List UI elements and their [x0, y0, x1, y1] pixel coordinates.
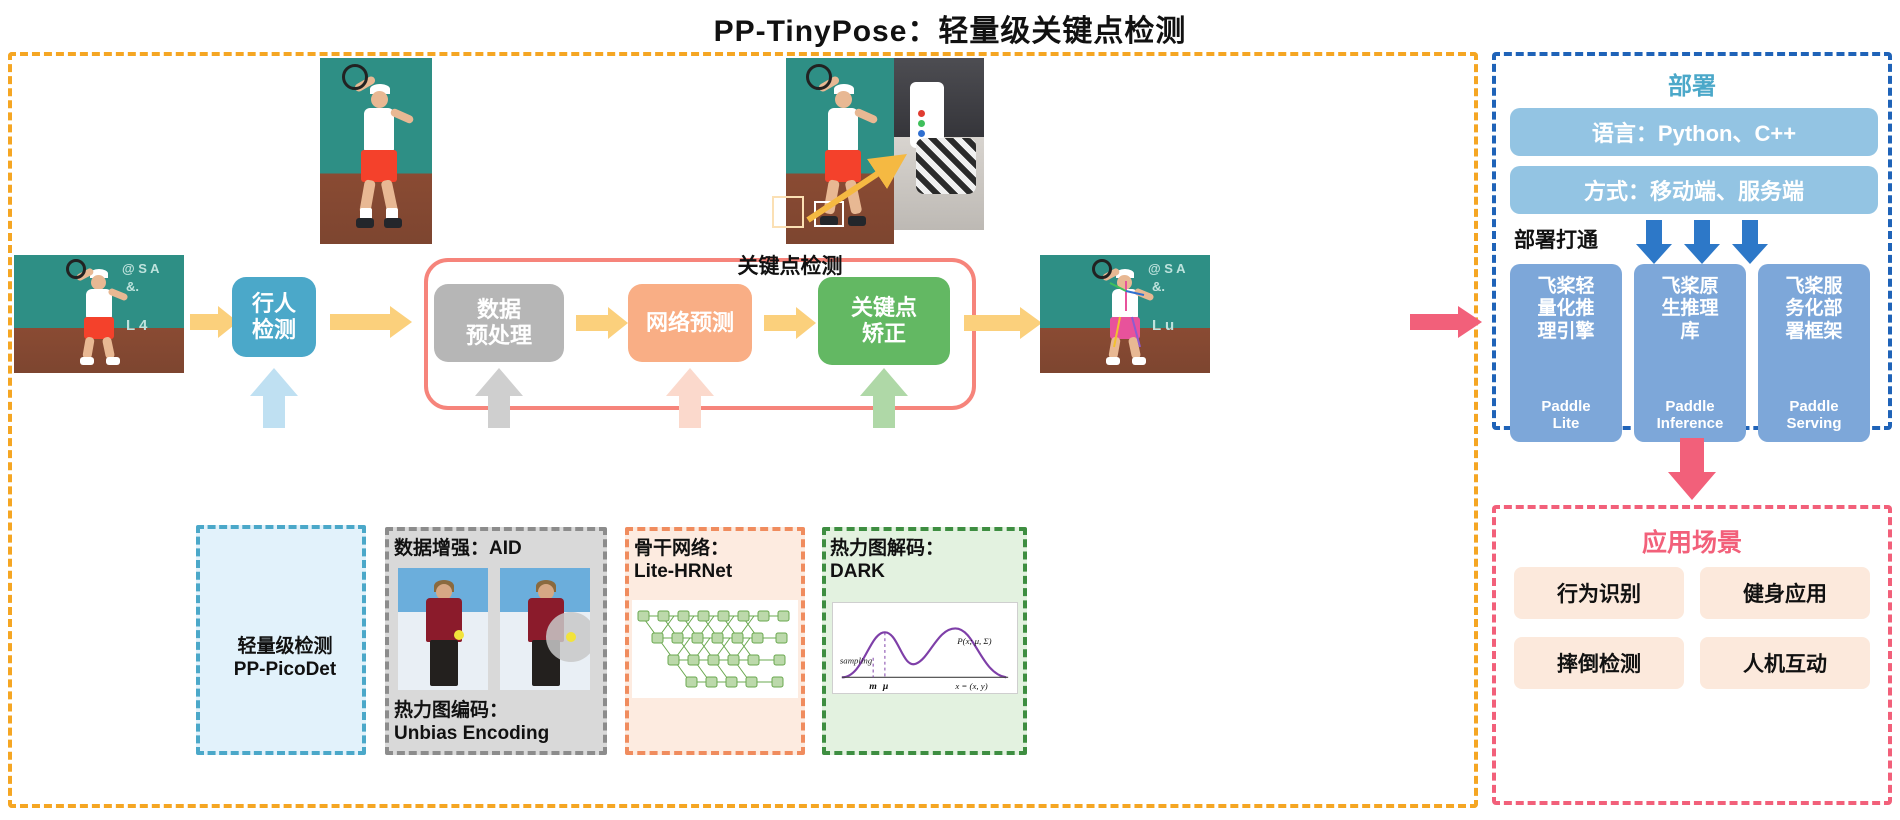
deploy-down-arrow-1: [1636, 220, 1672, 264]
network-prediction-box[interactable]: 网络预测: [628, 284, 752, 362]
shoe-shape: [916, 138, 976, 194]
deploy-through-label: 部署打通: [1514, 224, 1598, 254]
app-chip-human-interaction[interactable]: 人机互动: [1700, 637, 1870, 689]
framework-card-paddle-lite[interactable]: 飞桨轻 量化推 理引擎 Paddle Lite: [1510, 264, 1622, 442]
svg-text:sampling: sampling: [840, 656, 873, 666]
decode-label: 热力图解码： DARK: [830, 538, 944, 584]
player-figure: [62, 269, 140, 369]
framework-zh-label: 飞桨原 生推理 库: [1661, 276, 1718, 343]
aid-image-augmented: [500, 568, 590, 690]
skeleton-overlay: [1040, 255, 1210, 373]
deploy-language-bar[interactable]: 语言：Python、C++: [1510, 108, 1878, 156]
deploy-down-arrow-3: [1732, 220, 1768, 264]
deployment-panel: 部署 语言：Python、C++ 方式：移动端、服务端 部署打通 飞桨轻 量化推…: [1492, 52, 1892, 430]
framework-card-paddle-serving[interactable]: 飞桨服 务化部 署框架 Paddle Serving: [1758, 264, 1870, 442]
unbias-encoding-label: 热力图编码： Unbias Encoding: [394, 700, 549, 746]
svg-text:P(x; μ, Σ): P(x; μ, Σ): [956, 636, 991, 646]
keypoint-dot-blue: [918, 130, 925, 137]
app-chip-fall-detection[interactable]: 摔倒检测: [1514, 637, 1684, 689]
aid-image-original: [398, 568, 488, 690]
deploy-down-arrow-2: [1684, 220, 1720, 264]
cropped-person-photo-top: [320, 58, 432, 244]
page-title: PP-TinyPose：轻量级关键点检测: [0, 6, 1900, 50]
apps-title: 应用场景: [1496, 523, 1888, 559]
aid-label: 数据增强：AID: [394, 538, 522, 561]
framework-zh-label: 飞桨轻 量化推 理引擎: [1537, 276, 1594, 343]
framework-zh-label: 飞桨服 务化部 署框架: [1785, 276, 1842, 343]
app-chip-behavior-recognition[interactable]: 行为识别: [1514, 567, 1684, 619]
keypoint-dot-green: [918, 120, 925, 127]
arrow-decode-to-rectify: [860, 368, 908, 428]
hrnet-architecture-figure: [632, 600, 798, 698]
framework-en-label: Paddle Inference: [1657, 398, 1724, 433]
keypoint-dot-red: [918, 110, 925, 117]
svg-text:m: m: [869, 681, 877, 692]
input-photo: @ S A &. L 4: [14, 255, 184, 373]
preprocess-box[interactable]: 数据 预处理: [434, 284, 564, 362]
framework-en-label: Paddle Lite: [1541, 398, 1590, 433]
framework-card-paddle-inference[interactable]: 飞桨原 生推理 库 Paddle Inference: [1634, 264, 1746, 442]
arrow-backbone-to-network: [666, 368, 714, 428]
svg-text:x = (x, y): x = (x, y): [954, 681, 987, 691]
app-chip-fitness[interactable]: 健身应用: [1700, 567, 1870, 619]
arrow-deploy-to-apps: [1660, 438, 1724, 500]
application-scenarios-panel: 应用场景 行为识别 健身应用 摔倒检测 人机互动: [1492, 505, 1892, 805]
dark-distribution-figure: sampling m μ P(x; μ, Σ) x = (x, y): [832, 602, 1018, 694]
output-photo: @ S A &. L u: [1040, 255, 1210, 373]
deploy-method-bar[interactable]: 方式：移动端、服务端: [1510, 166, 1878, 214]
arrow-zoom-connector: [800, 150, 910, 240]
arrow-aid-to-preprocess: [475, 368, 523, 428]
player-figure-crop: [340, 68, 418, 238]
person-detection-box[interactable]: 行人 检测: [232, 277, 316, 357]
keypoint-rectify-box[interactable]: 关键点 矫正: [818, 277, 950, 365]
deploy-title: 部署: [1496, 66, 1888, 101]
svg-text:μ: μ: [882, 681, 889, 692]
keypoint-group-title: 关键点检测: [700, 250, 880, 280]
picodet-label: 轻量级检测 PP-PicoDet: [210, 636, 360, 682]
backbone-label: 骨干网络： Lite-HRNet: [634, 538, 732, 584]
arrow-picodet-to-detect: [250, 368, 298, 428]
framework-en-label: Paddle Serving: [1786, 398, 1841, 433]
